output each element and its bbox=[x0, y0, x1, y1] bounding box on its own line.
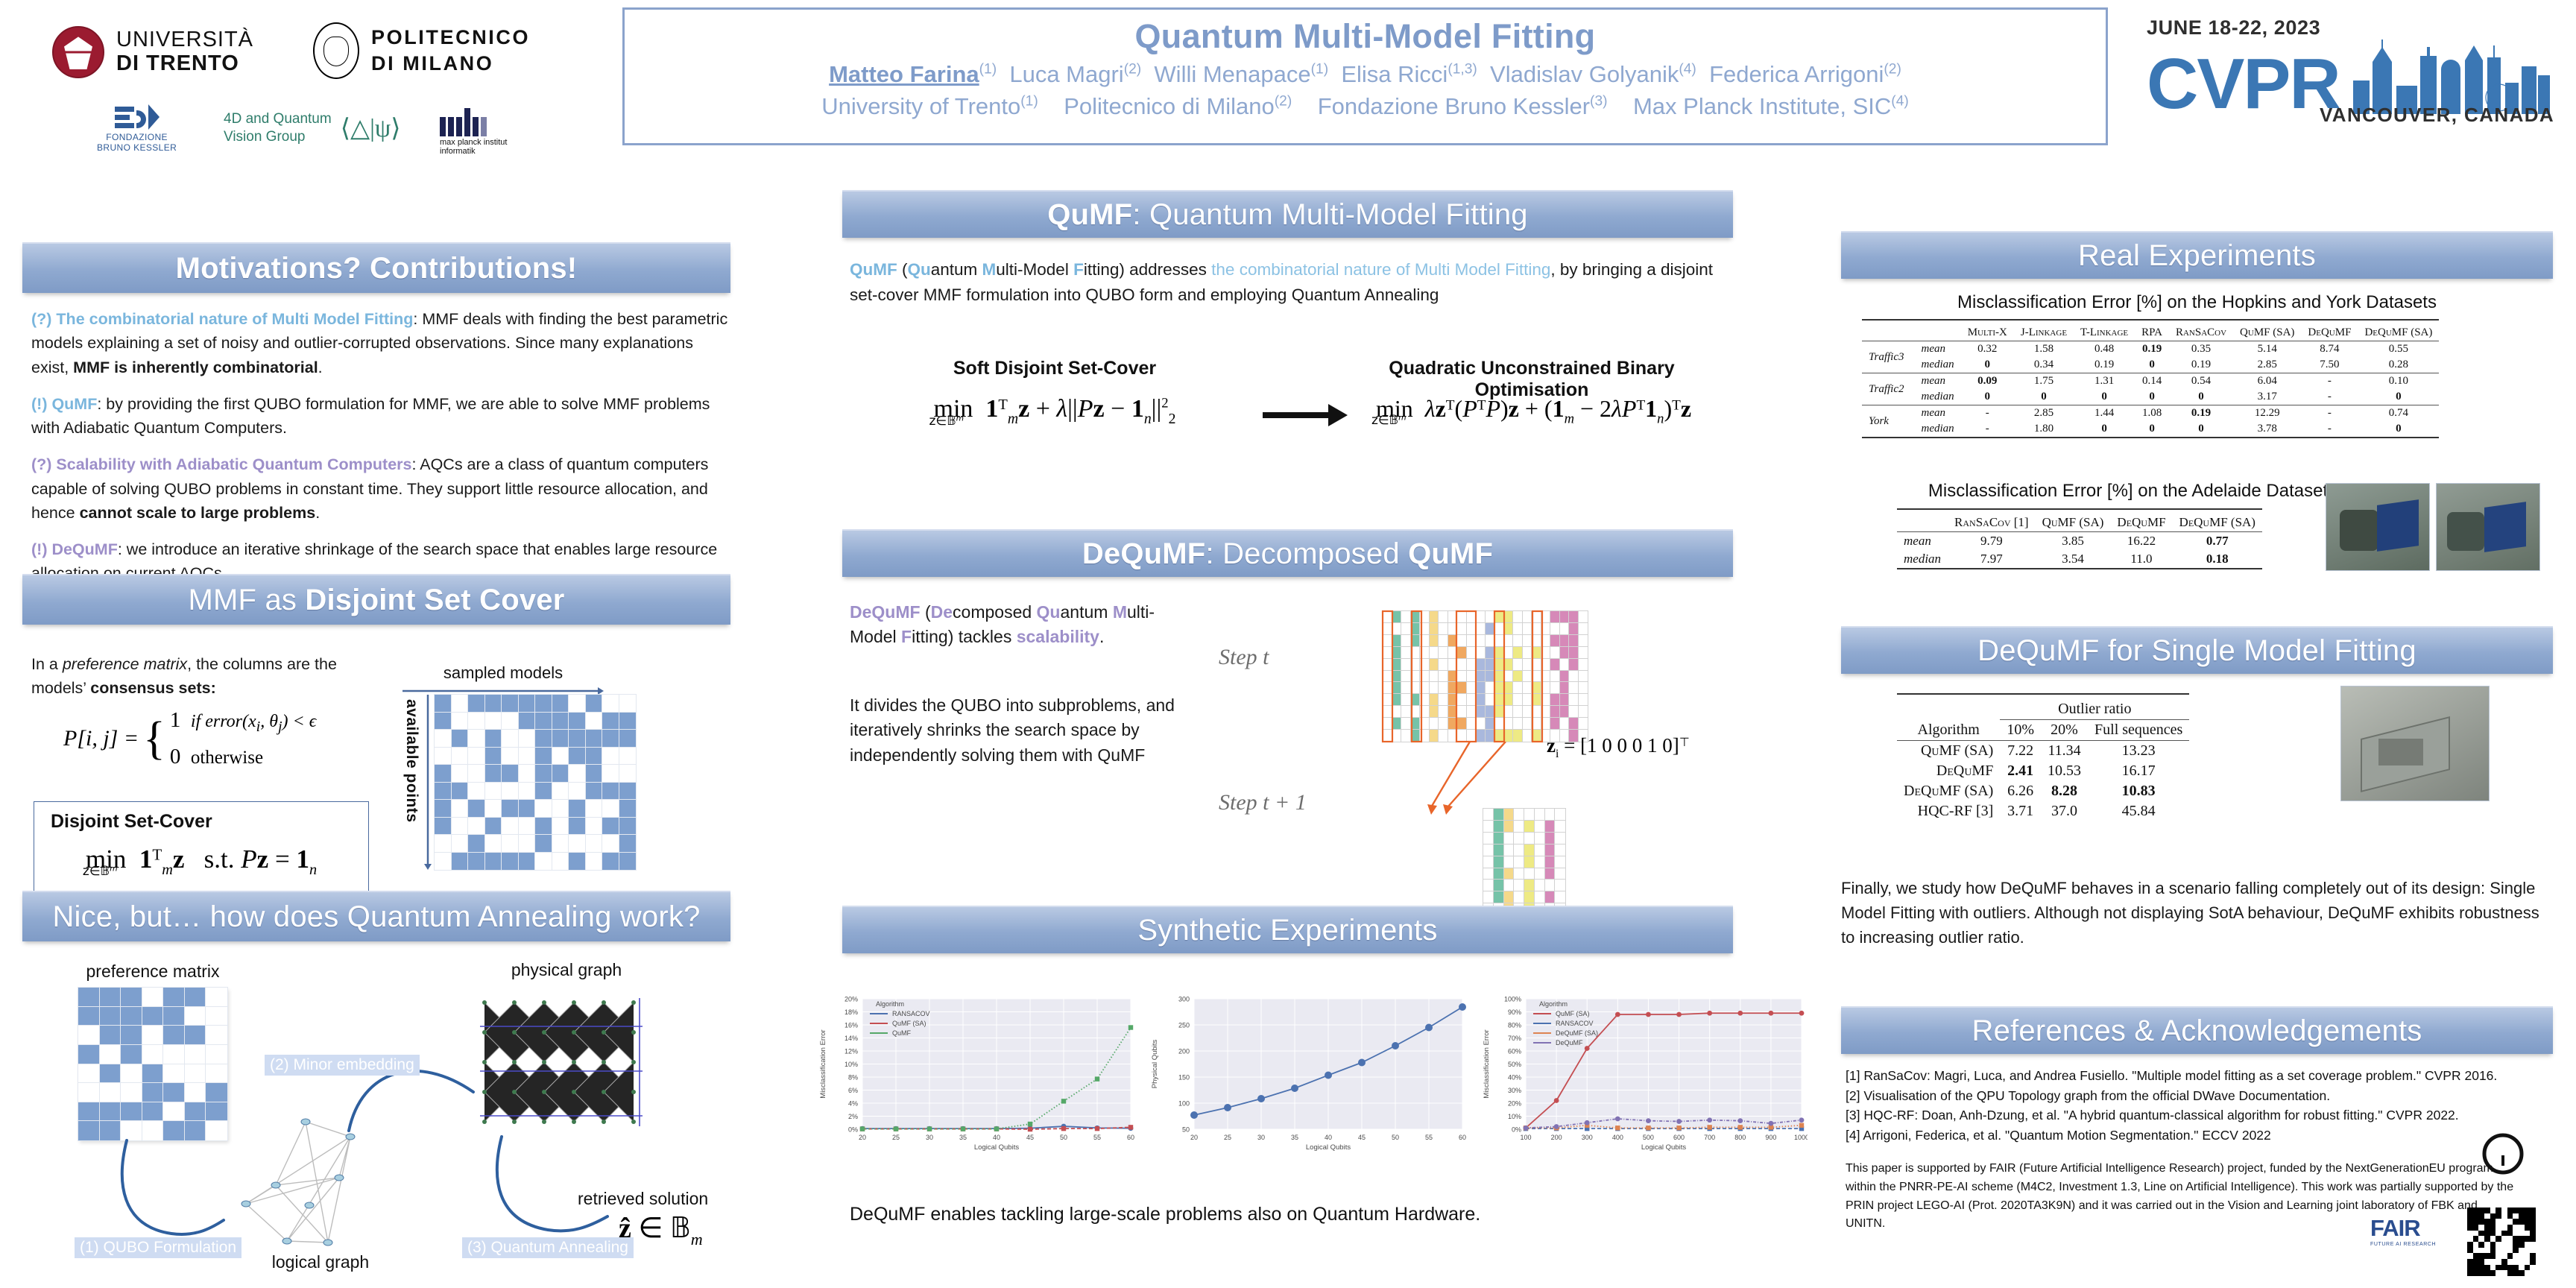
qr-module bbox=[2513, 1259, 2519, 1265]
svg-text:40: 40 bbox=[993, 1134, 1000, 1141]
row-stat: mean bbox=[1911, 373, 1961, 390]
lab-badge-icon bbox=[2482, 1133, 2524, 1175]
matrix-cell bbox=[619, 818, 637, 836]
matrix-cell bbox=[142, 1007, 164, 1026]
author-name: Luca Magri bbox=[1009, 61, 1123, 87]
table-cell: 10.53 bbox=[2041, 761, 2088, 781]
qr-module bbox=[2478, 1231, 2484, 1237]
matrix-cell bbox=[569, 765, 586, 783]
matrix-cell bbox=[586, 853, 603, 871]
matrix-cell bbox=[1483, 891, 1494, 903]
svg-text:20: 20 bbox=[1190, 1134, 1198, 1141]
qr-module bbox=[2501, 1270, 2507, 1276]
group-wordmark: 4D and Quantum Vision Group bbox=[224, 110, 332, 146]
matrix-cell bbox=[1514, 891, 1524, 903]
qr-module bbox=[2513, 1219, 2519, 1225]
qr-module bbox=[2525, 1248, 2531, 1254]
section-banner-mmf-disjoint-set-cover: MMF as Disjoint Set Cover bbox=[22, 574, 730, 625]
row-group-label: Traffic3 bbox=[1862, 341, 1911, 373]
matrix-cell bbox=[535, 853, 552, 871]
table-header-row: RanSaCov [1]QuMF (SA)DeQuMFDeQuMF (SA) bbox=[1897, 509, 2262, 532]
matrix-cell bbox=[1555, 845, 1565, 856]
step-t-plus-1-label: Step t + 1 bbox=[1219, 790, 1307, 815]
qr-module bbox=[2495, 1253, 2501, 1259]
matrix-cell bbox=[569, 783, 586, 801]
qr-module bbox=[2467, 1265, 2473, 1271]
table-cell: 0.18 bbox=[2173, 550, 2262, 568]
table-cell: 3.71 bbox=[2000, 801, 2041, 821]
matrix-cell bbox=[1545, 856, 1556, 868]
legend-title: Algorithm bbox=[1539, 1000, 1568, 1008]
svg-text:0%: 0% bbox=[1512, 1126, 1521, 1134]
qr-module bbox=[2525, 1207, 2531, 1213]
svg-text:12%: 12% bbox=[845, 1048, 858, 1055]
qumf-description: QuMF (Quantum Multi-Model Fitting) addre… bbox=[850, 257, 1729, 308]
table1-caption: Misclassification Error [%] on the Hopki… bbox=[1841, 292, 2553, 313]
column-header: 20% bbox=[2041, 720, 2088, 741]
reference-item: [2] Visualisation of the QPU Topology gr… bbox=[1846, 1086, 2561, 1106]
svg-text:25: 25 bbox=[892, 1134, 900, 1141]
table-cell: 0 bbox=[2358, 421, 2439, 437]
svg-text:20%: 20% bbox=[845, 996, 858, 1003]
matrix-cell bbox=[121, 1102, 142, 1122]
matrix-cell bbox=[435, 783, 452, 801]
section-banner-real-experiments: Real Experiments bbox=[1841, 231, 2553, 279]
qr-module bbox=[2467, 1270, 2473, 1276]
polimi-wordmark: POLITECNICO DI MILANO bbox=[371, 25, 530, 77]
qr-module bbox=[2495, 1207, 2501, 1213]
qr-module bbox=[2473, 1219, 2479, 1225]
qr-module bbox=[2495, 1259, 2501, 1265]
matrix-cell bbox=[619, 695, 637, 713]
table-row: DeQuMF2.4110.5316.17 bbox=[1897, 761, 2189, 781]
matrix-cell bbox=[163, 1064, 185, 1084]
table-cell: 0.19 bbox=[2169, 405, 2233, 422]
qr-module bbox=[2519, 1270, 2525, 1276]
qr-module bbox=[2473, 1213, 2479, 1219]
qr-module bbox=[2513, 1265, 2519, 1271]
matrix-cell bbox=[185, 1083, 206, 1102]
svg-text:70%: 70% bbox=[1508, 1035, 1521, 1042]
matrix-cell bbox=[569, 748, 586, 765]
qr-module bbox=[2473, 1259, 2479, 1265]
matrix-cell bbox=[619, 853, 637, 871]
table-cell: 7.97 bbox=[1948, 550, 2036, 568]
qr-module bbox=[2467, 1219, 2473, 1225]
matrix-cell bbox=[1483, 856, 1494, 868]
logo-fair: FAIR FUTURE AI RESEARCH bbox=[2370, 1215, 2436, 1247]
qr-module bbox=[2519, 1236, 2525, 1242]
matrix-cell bbox=[1504, 821, 1515, 833]
row-algorithm: DeQuMF bbox=[1897, 761, 2000, 781]
unitn-wordmark: UNIVERSITÀ DI TRENTO bbox=[116, 28, 253, 76]
matrix-cell bbox=[502, 835, 519, 853]
qr-module bbox=[2473, 1253, 2479, 1259]
preference-matrix-intro: In a preference matrix, the columns are … bbox=[31, 652, 382, 701]
table-cell: 1.31 bbox=[2074, 373, 2135, 390]
table-cell: 5.14 bbox=[2233, 341, 2301, 358]
matrix-cell bbox=[1504, 856, 1515, 868]
matrix-cell bbox=[435, 835, 452, 853]
matrix-cell bbox=[535, 730, 552, 748]
matrix-cell bbox=[468, 800, 485, 818]
affiliation: University of Trento bbox=[821, 93, 1020, 119]
qr-module bbox=[2530, 1265, 2536, 1271]
legend-entry: DeQuMF bbox=[1556, 1039, 1583, 1046]
matrix-cell bbox=[1494, 891, 1504, 903]
physical-graph-icon bbox=[470, 980, 656, 1152]
matrix-cell bbox=[121, 1045, 142, 1064]
matrix-cell bbox=[1555, 880, 1565, 891]
matrix-cell bbox=[602, 818, 619, 836]
column-header: DeQuMF (SA) bbox=[2173, 509, 2262, 532]
qr-module bbox=[2513, 1231, 2519, 1237]
preference-matrix-figure: sampled models available points bbox=[402, 663, 636, 870]
matrix-cell bbox=[485, 853, 502, 871]
matrix-cell bbox=[1483, 821, 1494, 833]
table-cell: 0.48 bbox=[2074, 341, 2135, 358]
matrix-cell bbox=[163, 1045, 185, 1064]
table-cell: 0 bbox=[2074, 421, 2135, 437]
reference-item: [4] Arrigoni, Federica, et al. "Quantum … bbox=[1846, 1126, 2561, 1146]
table-cell: 1.44 bbox=[2074, 405, 2135, 422]
row-algorithm: DeQuMF (SA) bbox=[1897, 781, 2000, 801]
matrix-cell bbox=[78, 1083, 100, 1102]
qr-module bbox=[2525, 1213, 2531, 1219]
qr-module bbox=[2501, 1236, 2507, 1242]
table-cell: 8.28 bbox=[2041, 781, 2088, 801]
qr-module bbox=[2484, 1248, 2490, 1254]
svg-text:16%: 16% bbox=[845, 1022, 858, 1029]
column-header: RanSaCov [1] bbox=[1948, 509, 2036, 532]
svg-text:35: 35 bbox=[959, 1134, 967, 1141]
qr-module bbox=[2507, 1236, 2513, 1242]
qr-module bbox=[2490, 1236, 2496, 1242]
matrix-cell bbox=[78, 988, 100, 1007]
qr-module bbox=[2478, 1207, 2484, 1213]
matrix-cell bbox=[1535, 891, 1545, 903]
matrix-cell bbox=[142, 1045, 164, 1064]
qr-module bbox=[2530, 1259, 2536, 1265]
svg-text:500: 500 bbox=[1643, 1134, 1654, 1141]
svg-text:300: 300 bbox=[1178, 996, 1190, 1003]
svg-text:50: 50 bbox=[1392, 1134, 1399, 1141]
step-t-label: Step t bbox=[1219, 645, 1269, 670]
matrix-cell bbox=[206, 1083, 227, 1102]
matrix-cell bbox=[1555, 868, 1565, 880]
matrix-cell bbox=[1545, 868, 1556, 880]
matrix-cell bbox=[1535, 868, 1545, 880]
matrix-cell bbox=[586, 818, 603, 836]
qr-module bbox=[2478, 1253, 2484, 1259]
svg-text:600: 600 bbox=[1673, 1134, 1685, 1141]
matrix-cell bbox=[1483, 868, 1494, 880]
legend-entry: QuMF (SA) bbox=[1556, 1010, 1590, 1017]
table-cell: 0.54 bbox=[2169, 373, 2233, 390]
matrix-cell bbox=[468, 713, 485, 730]
qr-module bbox=[2495, 1265, 2501, 1271]
matrix-cell bbox=[206, 1102, 227, 1122]
matrix-cell bbox=[435, 730, 452, 748]
qr-module bbox=[2513, 1270, 2519, 1276]
table-hopkins-york-wrapper: Multi-XJ-LinkageT-LinkageRPARanSaCovQuMF… bbox=[1862, 319, 2439, 438]
row-stat: median bbox=[1911, 421, 1961, 437]
author-name: Matteo Farina bbox=[829, 61, 979, 87]
matrix-cell bbox=[1504, 880, 1515, 891]
author-name: Federica Arrigoni bbox=[1709, 61, 1884, 87]
matrix-cell bbox=[485, 695, 502, 713]
qr-module bbox=[2490, 1248, 2496, 1254]
matrix-cell bbox=[1524, 868, 1535, 880]
legend-title: Algorithm bbox=[876, 1000, 904, 1008]
svg-text:250: 250 bbox=[1178, 1022, 1190, 1029]
page-title: Quantum Multi-Model Fitting bbox=[1135, 17, 1596, 56]
row-group-label: Traffic2 bbox=[1862, 373, 1911, 405]
matrix-cell bbox=[519, 853, 536, 871]
svg-text:45: 45 bbox=[1358, 1134, 1366, 1141]
qr-module bbox=[2484, 1225, 2490, 1231]
matrix-cell bbox=[485, 713, 502, 730]
table-cell: 0.77 bbox=[2173, 532, 2262, 551]
svg-text:30%: 30% bbox=[1508, 1087, 1521, 1094]
retrieved-solution-formula: ẑ ∈ 𝔹m bbox=[619, 1211, 703, 1249]
chart-dequmf-scaling: 0%10%20%30%40%50%60%70%80%90%100%1002003… bbox=[1480, 991, 1808, 1152]
step-2-minor-embedding: (2) Minor embedding bbox=[265, 1055, 420, 1076]
matrix-cell bbox=[1504, 833, 1515, 845]
matrix-cell bbox=[100, 1026, 121, 1045]
qr-module bbox=[2490, 1270, 2496, 1276]
table-row: Traffic2mean0.091.751.310.140.546.04-0.1… bbox=[1862, 373, 2439, 390]
svg-text:100%: 100% bbox=[1504, 996, 1521, 1003]
fair-wordmark: FAIR bbox=[2370, 1215, 2436, 1242]
qr-module bbox=[2478, 1242, 2484, 1248]
matrix-cell bbox=[519, 765, 536, 783]
qr-module bbox=[2530, 1236, 2536, 1242]
table-cell: 6.04 bbox=[2233, 373, 2301, 390]
author-name: Elisa Ricci bbox=[1341, 61, 1448, 87]
matrix-cell bbox=[468, 818, 485, 836]
qr-module bbox=[2501, 1265, 2507, 1271]
qr-module bbox=[2467, 1248, 2473, 1254]
matrix-cell bbox=[519, 748, 536, 765]
matrix-cell bbox=[452, 835, 469, 853]
arrow-down-icon bbox=[424, 695, 432, 870]
matrix-cell bbox=[1524, 809, 1535, 821]
adelaide-photo-left bbox=[2326, 483, 2430, 571]
table-cell: 0 bbox=[2169, 421, 2233, 437]
qr-module bbox=[2501, 1253, 2507, 1259]
matrix-cell bbox=[100, 1102, 121, 1122]
matrix-cell bbox=[452, 853, 469, 871]
qr-module bbox=[2501, 1259, 2507, 1265]
matrix-cell bbox=[185, 1026, 206, 1045]
x-axis-label: Logical Qubits bbox=[974, 1143, 1019, 1152]
qr-module bbox=[2473, 1265, 2479, 1271]
matrix-cell bbox=[502, 800, 519, 818]
matrix-cell bbox=[1545, 891, 1556, 903]
matrix-cell bbox=[206, 988, 227, 1007]
qr-module bbox=[2519, 1231, 2525, 1237]
annealing-pref-matrix-label: preference matrix bbox=[75, 962, 231, 982]
matrix-cell bbox=[1514, 821, 1524, 833]
legend-entry: QuMF bbox=[892, 1029, 912, 1037]
qr-module bbox=[2467, 1242, 2473, 1248]
qr-module bbox=[2484, 1231, 2490, 1237]
motivations-body: (?) The combinatorial nature of Multi Mo… bbox=[31, 307, 728, 599]
logo-4d-quantum-vision-group: 4D and Quantum Vision Group ⟨△|ψ⟩ bbox=[224, 110, 400, 146]
affiliations-line: University of Trento(1) Politecnico di M… bbox=[821, 93, 1909, 120]
table-row: Yorkmean-2.851.441.080.1912.29-0.74 bbox=[1862, 405, 2439, 422]
matrix-cell bbox=[1494, 833, 1504, 845]
matrix-cell bbox=[1555, 833, 1565, 845]
unitn-seal-icon bbox=[52, 26, 104, 78]
matrix-cell bbox=[435, 765, 452, 783]
table-cell: 0 bbox=[1961, 357, 2014, 373]
table-cell: 0.55 bbox=[2358, 341, 2439, 358]
matrix-cell bbox=[586, 695, 603, 713]
svg-text:200: 200 bbox=[1551, 1134, 1562, 1141]
legend-entry: DeQuMF (SA) bbox=[1556, 1029, 1598, 1037]
section-banner-single-model-fitting: DeQuMF for Single Model Fitting bbox=[1841, 626, 2553, 674]
matrix-cell bbox=[1514, 868, 1524, 880]
table-cell: 3.78 bbox=[2233, 421, 2301, 437]
matrix-cell bbox=[569, 695, 586, 713]
annealing-preference-matrix bbox=[78, 988, 227, 1140]
qr-module bbox=[2478, 1270, 2484, 1276]
matrix-cell bbox=[602, 853, 619, 871]
matrix-cell bbox=[502, 853, 519, 871]
section-banner-dequmf: DeQuMF: Decomposed QuMF bbox=[842, 529, 1733, 577]
svg-text:10%: 10% bbox=[845, 1061, 858, 1068]
arrow-right-icon bbox=[402, 687, 604, 695]
table-cell: 11.0 bbox=[2110, 550, 2172, 568]
svg-text:200: 200 bbox=[1178, 1048, 1190, 1055]
matrix-cell bbox=[1555, 809, 1565, 821]
chart-svg: 0%2%4%6%8%10%12%14%16%18%20%202530354045… bbox=[816, 991, 1137, 1152]
matrix-cell bbox=[502, 765, 519, 783]
table-single-model-fitting: Outlier ratioAlgorithm10%20%Full sequenc… bbox=[1897, 693, 2189, 821]
logo-politecnico-di-milano: POLITECNICO DI MILANO bbox=[313, 22, 530, 79]
qr-module bbox=[2478, 1259, 2484, 1265]
svg-text:150: 150 bbox=[1178, 1074, 1190, 1082]
table-bottom-rule bbox=[1897, 568, 2262, 569]
matrix-cell bbox=[1483, 845, 1494, 856]
matrix-cell bbox=[485, 765, 502, 783]
matrix-cell bbox=[586, 765, 603, 783]
svg-text:700: 700 bbox=[1704, 1134, 1715, 1141]
qr-module bbox=[2530, 1207, 2536, 1213]
table-cell: 0.34 bbox=[2014, 357, 2074, 373]
table-cell: - bbox=[1961, 405, 2014, 422]
matrix-cell bbox=[100, 1045, 121, 1064]
qr-module bbox=[2495, 1213, 2501, 1219]
matrix-cell bbox=[163, 1102, 185, 1122]
table-header-row: Algorithm10%20%Full sequences bbox=[1897, 720, 2189, 741]
matrix-cell bbox=[485, 800, 502, 818]
author-name: Willi Menapace bbox=[1154, 61, 1310, 87]
qr-module bbox=[2507, 1253, 2513, 1259]
fbk-mark-icon bbox=[115, 104, 160, 130]
matrix-cell bbox=[1535, 833, 1545, 845]
qr-code[interactable] bbox=[2467, 1207, 2536, 1276]
matrix-cell bbox=[519, 783, 536, 801]
qr-module bbox=[2519, 1219, 2525, 1225]
qr-module bbox=[2495, 1236, 2501, 1242]
matrix-cell bbox=[602, 835, 619, 853]
qr-module bbox=[2490, 1253, 2496, 1259]
matrix-cell bbox=[569, 835, 586, 853]
qr-module bbox=[2519, 1248, 2525, 1254]
matrix-cell bbox=[552, 765, 569, 783]
matrix-cell bbox=[1494, 809, 1504, 821]
qr-module bbox=[2467, 1259, 2473, 1265]
matrix-cell bbox=[1545, 880, 1556, 891]
column-header: Algorithm bbox=[1897, 720, 2000, 741]
table-cell: 11.34 bbox=[2041, 741, 2088, 762]
matrix-cell bbox=[1514, 833, 1524, 845]
qr-module bbox=[2507, 1259, 2513, 1265]
section-banner-qumf: QuMF: Quantum Multi-Model Fitting bbox=[842, 190, 1733, 238]
dequmf-description-1: DeQuMF (Decomposed Quantum Multi-Model F… bbox=[850, 600, 1185, 650]
annealing-logical-graph-label: logical graph bbox=[239, 1252, 402, 1272]
qr-module bbox=[2484, 1265, 2490, 1271]
matrix-cell bbox=[1524, 845, 1535, 856]
table-row: median-1.800003.78-0 bbox=[1862, 421, 2439, 437]
matrix-cell bbox=[1504, 845, 1515, 856]
svg-text:8%: 8% bbox=[848, 1074, 858, 1082]
svg-text:90%: 90% bbox=[1508, 1008, 1521, 1016]
qr-module bbox=[2495, 1225, 2501, 1231]
legend-entry: RANSACOV bbox=[1556, 1020, 1594, 1027]
matrix-cell bbox=[1504, 891, 1515, 903]
table-cell: - bbox=[2301, 373, 2358, 390]
matrix-cell bbox=[485, 783, 502, 801]
matrix-cell bbox=[185, 1102, 206, 1122]
table-cell: 16.17 bbox=[2088, 761, 2189, 781]
cvpr-city: VANCOUVER, CANADA bbox=[2320, 104, 2564, 127]
affiliation: Politecnico di Milano bbox=[1064, 93, 1275, 119]
table-cell: 0.19 bbox=[2135, 341, 2169, 358]
retrieved-solution-label: retrieved solution bbox=[578, 1189, 708, 1209]
author-name: Vladislav Golyanik bbox=[1490, 61, 1679, 87]
matrix-cell bbox=[586, 800, 603, 818]
table-row: median7.973.5411.00.18 bbox=[1897, 550, 2262, 568]
table-cell: 0 bbox=[1961, 389, 2014, 405]
qr-module bbox=[2519, 1265, 2525, 1271]
table-row: median00.340.1900.192.857.500.28 bbox=[1862, 357, 2439, 373]
qr-module bbox=[2490, 1207, 2496, 1213]
qr-module bbox=[2513, 1248, 2519, 1254]
matrix-cell bbox=[552, 695, 569, 713]
table-cell: 3.17 bbox=[2233, 389, 2301, 405]
qr-module bbox=[2525, 1270, 2531, 1276]
qr-module bbox=[2507, 1242, 2513, 1248]
matrix-cell bbox=[485, 835, 502, 853]
table-cell: 0.09 bbox=[1961, 373, 2014, 390]
polimi-seal-icon bbox=[313, 22, 359, 79]
matrix-cell bbox=[602, 748, 619, 765]
table-cell: 9.79 bbox=[1948, 532, 2036, 551]
matrix-cell bbox=[602, 765, 619, 783]
svg-text:50: 50 bbox=[1060, 1134, 1067, 1141]
matrix-cell bbox=[602, 695, 619, 713]
qr-module bbox=[2473, 1248, 2479, 1254]
section-banner-references: References & Acknowledgements bbox=[1841, 1006, 2553, 1054]
matrix-cell bbox=[519, 713, 536, 730]
step-1-qubo-formulation: (1) QUBO Formulation bbox=[75, 1237, 241, 1258]
table-cell: 8.74 bbox=[2301, 341, 2358, 358]
matrix-cell bbox=[619, 730, 637, 748]
